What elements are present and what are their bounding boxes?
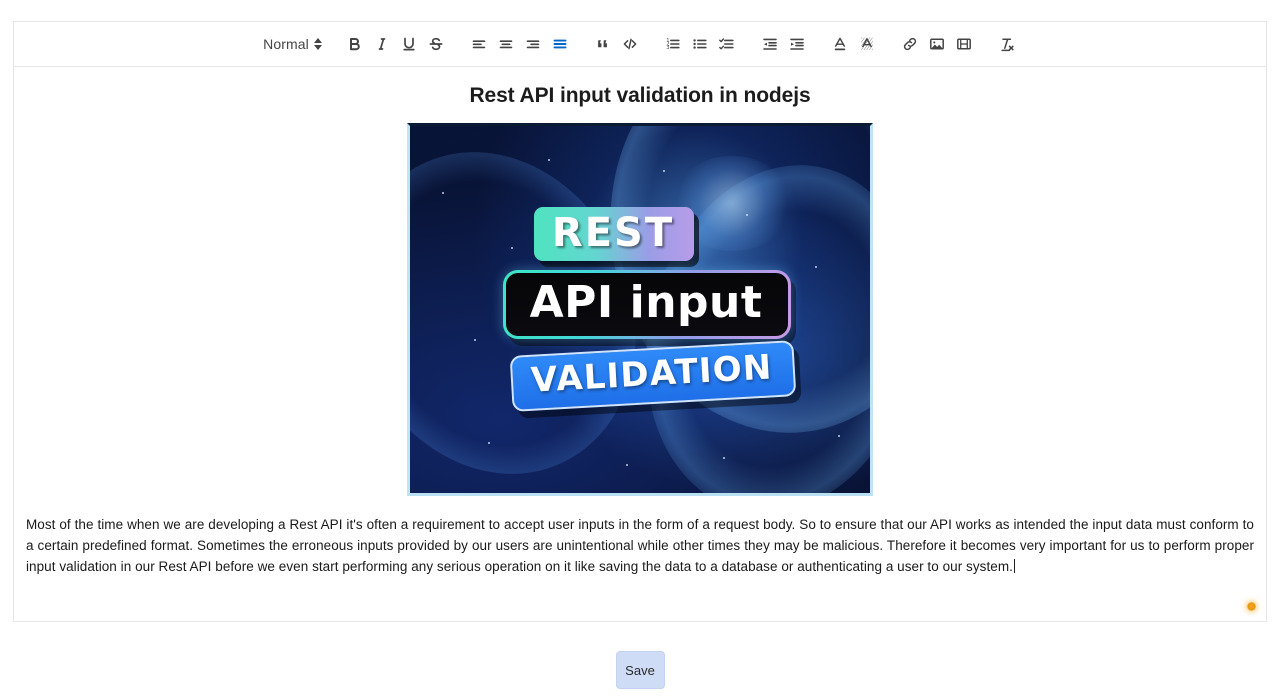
svg-text:3: 3	[667, 45, 670, 51]
list-group: 123	[660, 31, 741, 57]
toolbar-separator	[450, 44, 466, 45]
badge-rest: REST	[534, 207, 694, 261]
save-button[interactable]: Save	[616, 651, 665, 689]
indent-decrease-icon[interactable]	[757, 31, 784, 57]
bullet-list-icon[interactable]	[687, 31, 714, 57]
save-row: Save	[0, 651, 1280, 689]
resize-handle[interactable]	[1247, 602, 1256, 611]
banner-badges: REST API input VALIDATION	[410, 126, 870, 493]
toolbar-separator	[574, 44, 590, 45]
italic-icon[interactable]	[369, 31, 396, 57]
toolbar-separator	[741, 44, 757, 45]
check-list-icon[interactable]	[714, 31, 741, 57]
document-paragraph: Most of the time when we are developing …	[26, 514, 1254, 577]
text-caret	[1014, 559, 1015, 573]
align-center-icon[interactable]	[493, 31, 520, 57]
rich-text-editor: Normal	[13, 21, 1267, 622]
underline-icon[interactable]	[396, 31, 423, 57]
align-group	[466, 31, 574, 57]
indent-increase-icon[interactable]	[784, 31, 811, 57]
toolbar-separator	[811, 44, 827, 45]
toolbar-separator	[326, 44, 342, 45]
editor-page: Normal	[0, 0, 1280, 699]
align-right-icon[interactable]	[520, 31, 547, 57]
link-icon[interactable]	[897, 31, 924, 57]
block-group	[590, 31, 644, 57]
format-picker[interactable]: Normal	[259, 31, 326, 57]
align-justify-icon[interactable]	[547, 31, 574, 57]
paragraph-text: Most of the time when we are developing …	[26, 517, 1254, 574]
bold-icon[interactable]	[342, 31, 369, 57]
toolbar-separator	[644, 44, 660, 45]
clean-group	[994, 31, 1021, 57]
clear-formatting-icon[interactable]	[994, 31, 1021, 57]
toolbar-separator	[978, 44, 994, 45]
code-block-icon[interactable]	[617, 31, 644, 57]
strike-icon[interactable]	[423, 31, 450, 57]
chevron-updown-icon	[314, 38, 322, 50]
badge-validation: VALIDATION	[510, 340, 796, 412]
color-group	[827, 31, 881, 57]
editor-content-area[interactable]: Rest API input validation in nodejs	[13, 66, 1267, 622]
editor-toolbar: Normal	[13, 21, 1267, 66]
rest-api-validation-banner[interactable]: REST API input VALIDATION	[407, 123, 873, 496]
blockquote-icon[interactable]	[590, 31, 617, 57]
badge-api-input: API input	[503, 270, 792, 339]
image-icon[interactable]	[924, 31, 951, 57]
page-title: Rest API input validation in nodejs	[26, 81, 1254, 109]
document-image-wrapper: REST API input VALIDATION	[26, 123, 1254, 496]
toolbar-separator	[881, 44, 897, 45]
text-style-group	[342, 31, 450, 57]
text-color-icon[interactable]	[827, 31, 854, 57]
align-left-icon[interactable]	[466, 31, 493, 57]
video-icon[interactable]	[951, 31, 978, 57]
background-color-icon[interactable]	[854, 31, 881, 57]
indent-group	[757, 31, 811, 57]
insert-group	[897, 31, 978, 57]
format-picker-label: Normal	[263, 37, 309, 51]
ordered-list-icon[interactable]: 123	[660, 31, 687, 57]
